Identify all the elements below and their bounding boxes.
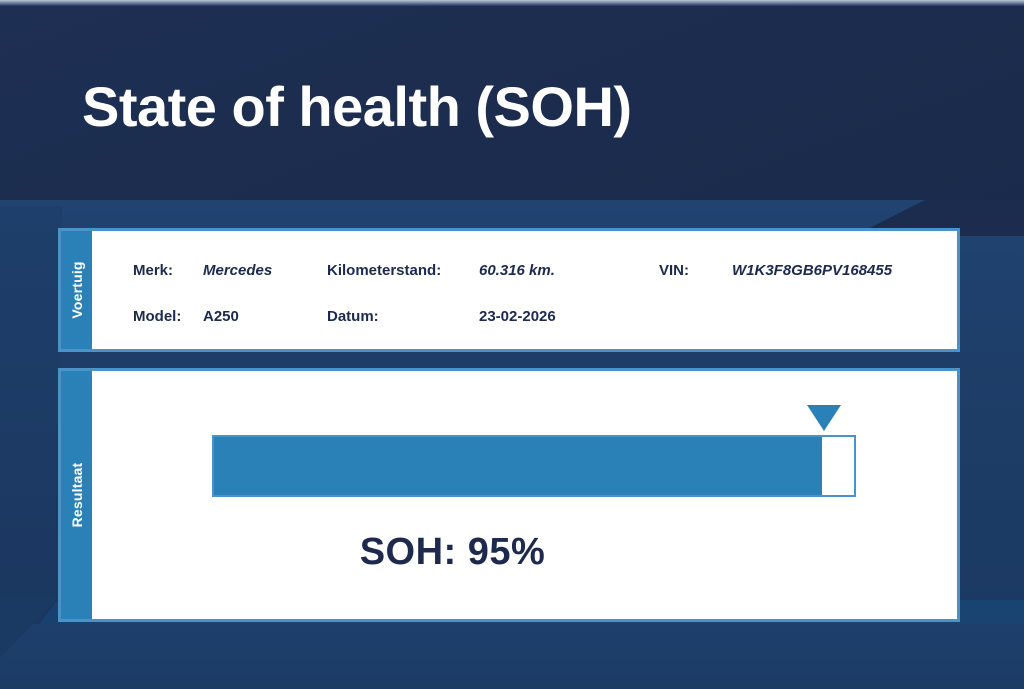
soh-gauge-fill: [214, 437, 822, 495]
result-panel-tab: Resultaat: [61, 371, 92, 619]
field-vin-value: W1K3F8GB6PV168455: [732, 262, 892, 279]
vehicle-panel-body: Merk: Mercedes Kilometerstand: 60.316 km…: [92, 231, 957, 349]
vehicle-panel: Voertuig Merk: Mercedes Kilometerstand: …: [58, 228, 960, 352]
field-model-label-cell: Model:: [92, 308, 203, 325]
soh-gauge-track: [212, 435, 856, 497]
background-left-shade: [0, 206, 62, 624]
result-panel-body: SOH: 95%: [92, 371, 957, 619]
field-model-value: A250: [203, 308, 239, 325]
field-vin-label: VIN:: [659, 262, 689, 279]
field-kilometerstand-value: 60.316 km.: [479, 262, 555, 279]
field-datum-value: 23-02-2026: [479, 308, 556, 325]
soh-value-text-wrap: SOH: 95%: [92, 531, 957, 574]
page-title: State of health (SOH): [82, 74, 632, 139]
background-footer-band: [0, 624, 1024, 689]
field-kilometerstand-label-cell: Kilometerstand:: [327, 262, 479, 279]
soh-gauge: [212, 435, 856, 497]
vehicle-info-row: Model: A250 Datum: 23-02-2026: [92, 293, 957, 339]
slide-root: State of health (SOH) Voertuig Merk: Mer…: [0, 0, 1024, 689]
vehicle-info-row: Merk: Mercedes Kilometerstand: 60.316 km…: [92, 247, 957, 293]
field-kilometerstand-value-cell: 60.316 km.: [479, 262, 659, 279]
field-merk-label-cell: Merk:: [92, 262, 203, 279]
result-panel: Resultaat SOH: 95%: [58, 368, 960, 622]
field-vin-value-cell: W1K3F8GB6PV168455: [732, 262, 892, 279]
field-vin-label-cell: VIN:: [659, 262, 732, 279]
field-merk-value-cell: Mercedes: [203, 262, 327, 279]
soh-value-text: SOH: 95%: [360, 531, 546, 573]
field-datum-value-cell: 23-02-2026: [479, 308, 659, 325]
field-model-label: Model:: [133, 308, 181, 325]
field-kilometerstand-label: Kilometerstand:: [327, 262, 441, 279]
field-datum-label-cell: Datum:: [327, 308, 479, 325]
vehicle-panel-tab-label: Voertuig: [69, 261, 85, 318]
field-model-value-cell: A250: [203, 308, 327, 325]
field-merk-value: Mercedes: [203, 262, 272, 279]
field-datum-label: Datum:: [327, 308, 379, 325]
field-merk-label: Merk:: [133, 262, 173, 279]
soh-gauge-marker-triangle-icon: [807, 405, 841, 431]
vehicle-info-grid: Merk: Mercedes Kilometerstand: 60.316 km…: [92, 231, 957, 349]
background-top-strip: [0, 0, 1024, 6]
result-panel-tab-label: Resultaat: [69, 463, 85, 528]
vehicle-panel-tab: Voertuig: [61, 231, 92, 349]
